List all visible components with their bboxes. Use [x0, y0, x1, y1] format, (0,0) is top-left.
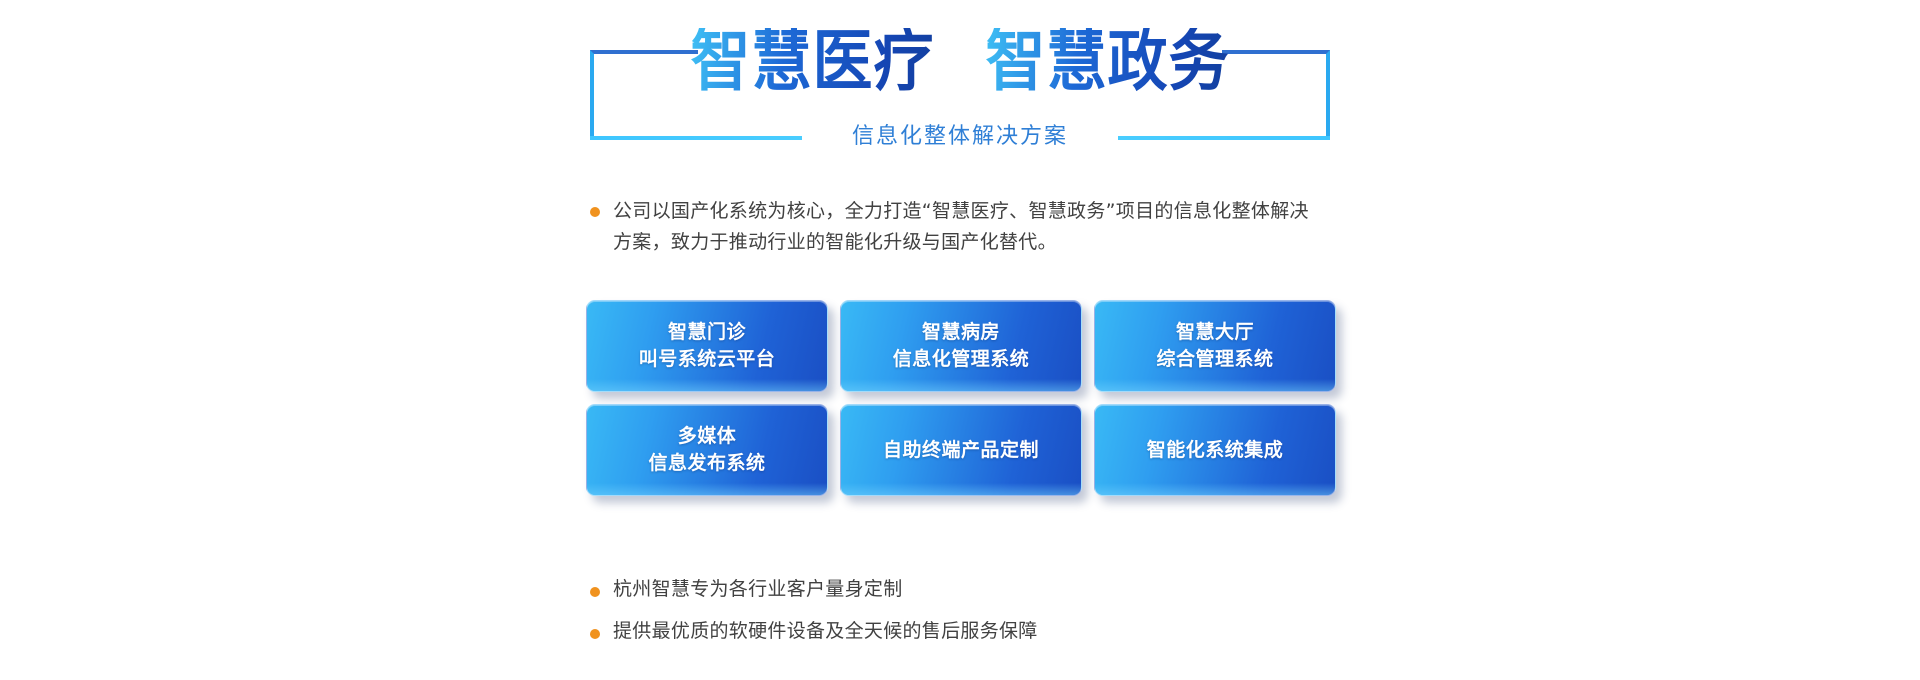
intro-paragraph: 公司以国产化系统为核心，全力打造“智慧医疗、智慧政务”项目的信息化整体解决方案，…: [590, 196, 1310, 258]
subtitle-label: 信息化整体解决方案: [838, 124, 1082, 150]
card-row-1: 智慧门诊 叫号系统云平台 智慧病房 信息化管理系统 智慧大厅 综合管理系统: [586, 300, 1336, 392]
bullet-dot-icon: [590, 207, 600, 217]
header-block: 智慧医疗 智慧政务 信息化整体解决方案: [590, 28, 1330, 140]
card-self-service-terminal[interactable]: 自助终端产品定制: [840, 404, 1082, 496]
card-row-2: 多媒体 信息发布系统 自助终端产品定制 智能化系统集成: [586, 404, 1336, 496]
solution-card-grid: 智慧门诊 叫号系统云平台 智慧病房 信息化管理系统 智慧大厅 综合管理系统 多媒…: [586, 300, 1336, 508]
card-label: 智能化系统集成: [1147, 437, 1284, 464]
card-multimedia-publishing[interactable]: 多媒体 信息发布系统: [586, 404, 828, 496]
bullet-dot-icon: [590, 629, 600, 639]
card-label: 智慧病房 信息化管理系统: [893, 319, 1030, 373]
promo-banner: 智慧医疗 智慧政务 信息化整体解决方案 公司以国产化系统为核心，全力打造“智慧医…: [0, 0, 1920, 680]
bullet-text: 杭州智慧专为各行业客户量身定制: [613, 576, 903, 602]
title-part-healthcare: 智慧医疗: [691, 28, 935, 95]
bullet-text: 提供最优质的软硬件设备及全天候的售后服务保障: [613, 618, 1038, 644]
card-smart-ward[interactable]: 智慧病房 信息化管理系统: [840, 300, 1082, 392]
card-intelligent-integration[interactable]: 智能化系统集成: [1094, 404, 1336, 496]
page-title: 智慧医疗 智慧政务: [590, 28, 1330, 88]
feature-bullet-list: 杭州智慧专为各行业客户量身定制 提供最优质的软硬件设备及全天候的售后服务保障: [590, 576, 1310, 660]
card-smart-hall[interactable]: 智慧大厅 综合管理系统: [1094, 300, 1336, 392]
list-item: 提供最优质的软硬件设备及全天候的售后服务保障: [590, 618, 1310, 644]
title-part-government: 智慧政务: [985, 28, 1229, 95]
card-label: 多媒体 信息发布系统: [648, 423, 765, 477]
list-item: 杭州智慧专为各行业客户量身定制: [590, 576, 1310, 602]
bullet-dot-icon: [590, 587, 600, 597]
intro-text: 公司以国产化系统为核心，全力打造“智慧医疗、智慧政务”项目的信息化整体解决方案，…: [613, 196, 1310, 258]
card-smart-outpatient[interactable]: 智慧门诊 叫号系统云平台: [586, 300, 828, 392]
page-subtitle: 信息化整体解决方案: [590, 124, 1330, 150]
card-label: 智慧大厅 综合管理系统: [1156, 319, 1273, 373]
card-label: 智慧门诊 叫号系统云平台: [639, 319, 776, 373]
card-label: 自助终端产品定制: [883, 437, 1039, 464]
